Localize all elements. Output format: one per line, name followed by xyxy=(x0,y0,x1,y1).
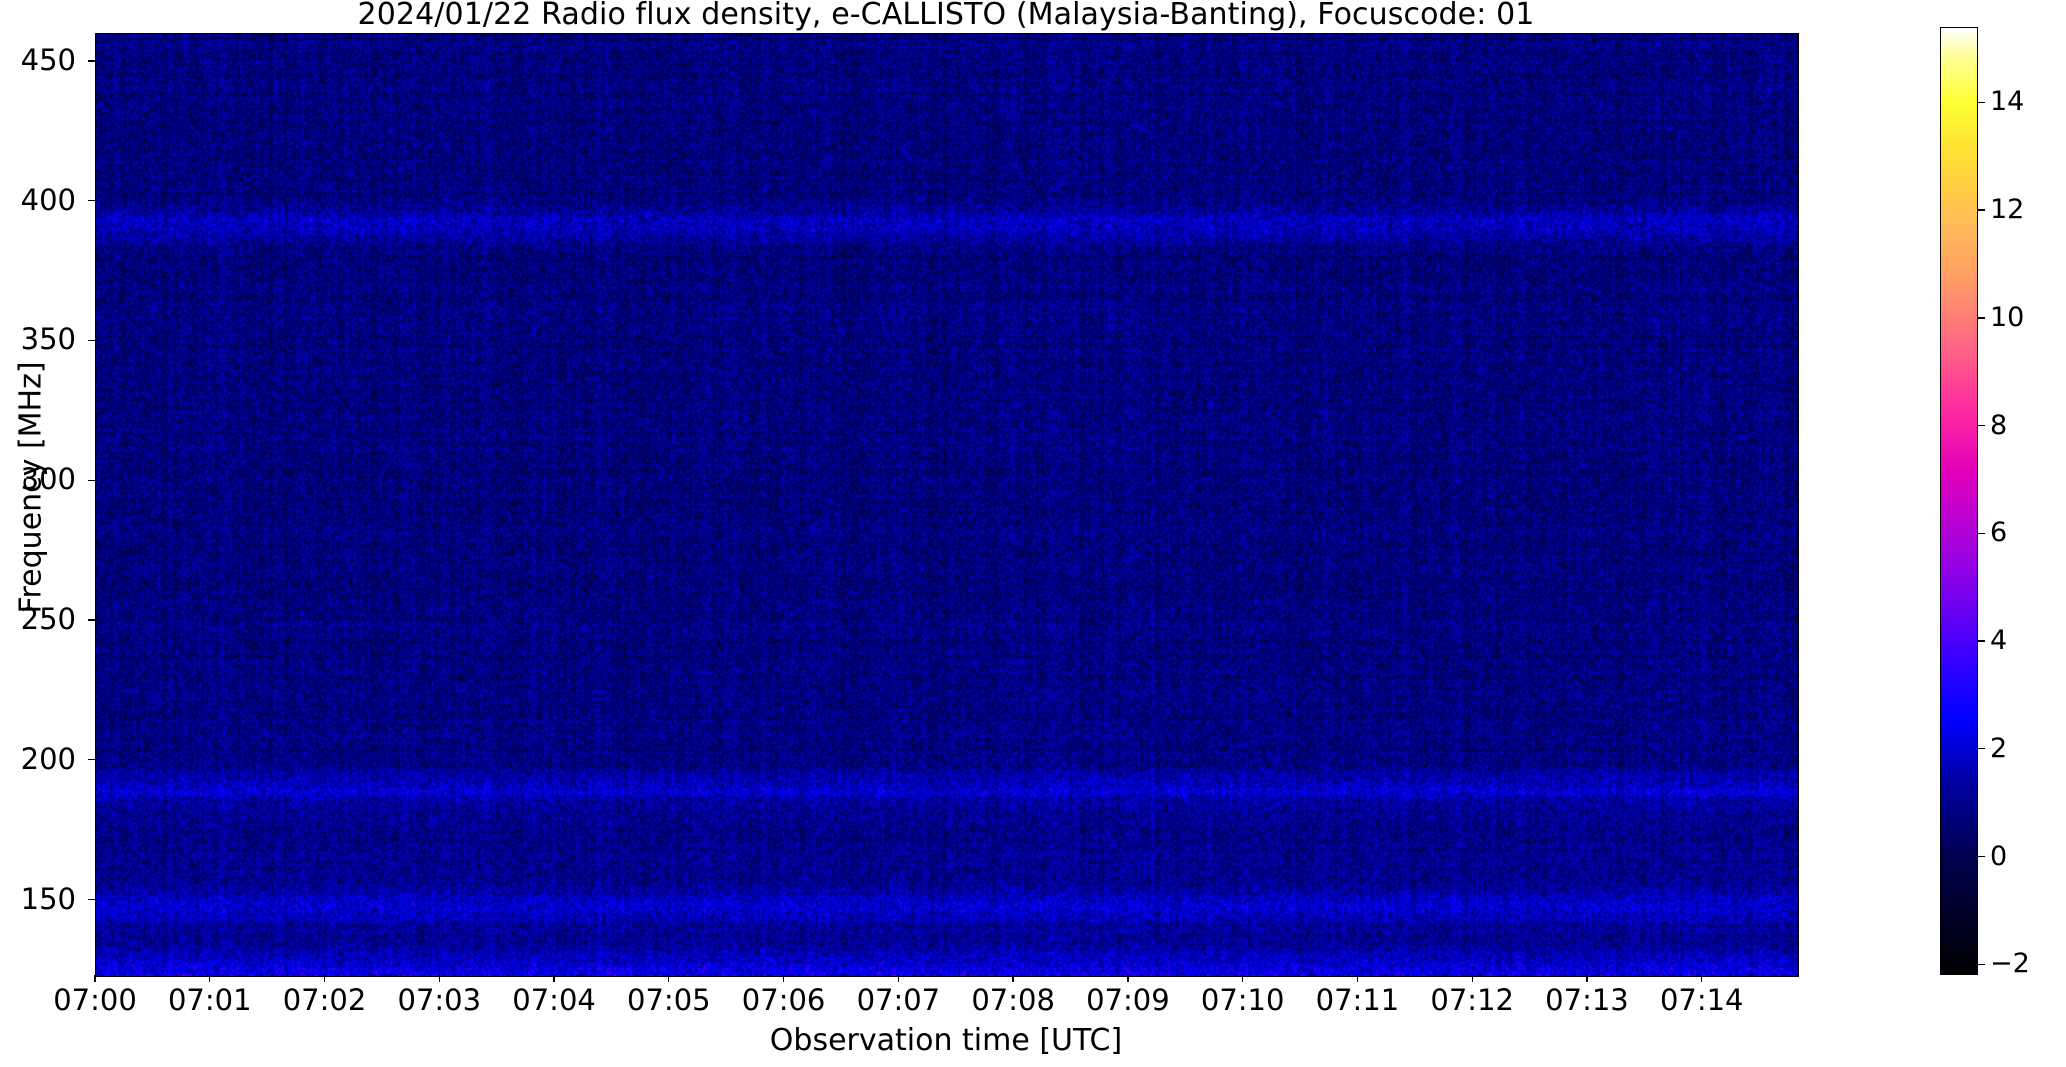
x-tick-mark xyxy=(1472,975,1473,982)
colorbar-tick-label: 12 xyxy=(1990,196,2024,223)
colorbar-tick-mark xyxy=(1978,856,1985,857)
colorbar-tick-mark xyxy=(1978,209,1985,210)
colorbar-tick-mark xyxy=(1978,748,1985,749)
x-tick-mark xyxy=(783,975,784,982)
y-tick-label: 400 xyxy=(0,186,76,215)
colorbar-tick-label: 14 xyxy=(1990,88,2024,115)
colorbar-gradient xyxy=(1940,27,1978,975)
x-tick-mark xyxy=(553,975,554,982)
y-tick-label: 150 xyxy=(0,885,76,914)
colorbar-tick-label: 6 xyxy=(1990,519,2007,546)
x-tick-mark xyxy=(1357,975,1358,982)
spectrogram-heatmap xyxy=(96,34,1798,976)
spectrogram-plot-area[interactable] xyxy=(95,33,1799,977)
x-tick-mark xyxy=(1701,975,1702,982)
colorbar-tick-mark xyxy=(1978,640,1985,641)
x-tick-mark xyxy=(1242,975,1243,982)
y-tick-label: 300 xyxy=(0,465,76,494)
y-tick-mark xyxy=(88,619,95,620)
colorbar-tick-label: 4 xyxy=(1990,627,2007,654)
y-tick-mark xyxy=(88,200,95,201)
colorbar-tick-label: 8 xyxy=(1990,412,2007,439)
colorbar-tick-mark xyxy=(1978,102,1985,103)
y-tick-mark xyxy=(88,480,95,481)
x-tick-mark xyxy=(439,975,440,982)
colorbar-tick-label: 10 xyxy=(1990,304,2024,331)
y-tick-mark xyxy=(88,899,95,900)
figure-canvas: 2024/01/22 Radio flux density, e-CALLIST… xyxy=(0,0,2066,1067)
colorbar[interactable] xyxy=(1940,27,1978,975)
y-tick-label: 200 xyxy=(0,745,76,774)
y-tick-label: 250 xyxy=(0,605,76,634)
y-tick-label: 350 xyxy=(0,325,76,354)
colorbar-tick-label: 2 xyxy=(1990,735,2007,762)
colorbar-tick-label: −2 xyxy=(1990,950,2030,977)
y-tick-label: 450 xyxy=(0,46,76,75)
x-tick-mark xyxy=(898,975,899,982)
colorbar-tick-mark xyxy=(1978,964,1985,965)
x-tick-mark xyxy=(324,975,325,982)
x-tick-mark xyxy=(668,975,669,982)
x-axis-label: Observation time [UTC] xyxy=(95,1023,1797,1058)
colorbar-tick-label: 0 xyxy=(1990,843,2007,870)
colorbar-tick-mark xyxy=(1978,533,1985,534)
x-tick-label: 07:14 xyxy=(1627,985,1777,1017)
page-title: 2024/01/22 Radio flux density, e-CALLIST… xyxy=(95,0,1797,32)
colorbar-tick-mark xyxy=(1978,425,1985,426)
x-tick-mark xyxy=(94,975,95,982)
x-tick-mark xyxy=(1586,975,1587,982)
x-tick-mark xyxy=(209,975,210,982)
x-tick-mark xyxy=(1127,975,1128,982)
y-tick-mark xyxy=(88,60,95,61)
colorbar-tick-mark xyxy=(1978,317,1985,318)
x-tick-mark xyxy=(1012,975,1013,982)
y-tick-mark xyxy=(88,340,95,341)
y-tick-mark xyxy=(88,759,95,760)
